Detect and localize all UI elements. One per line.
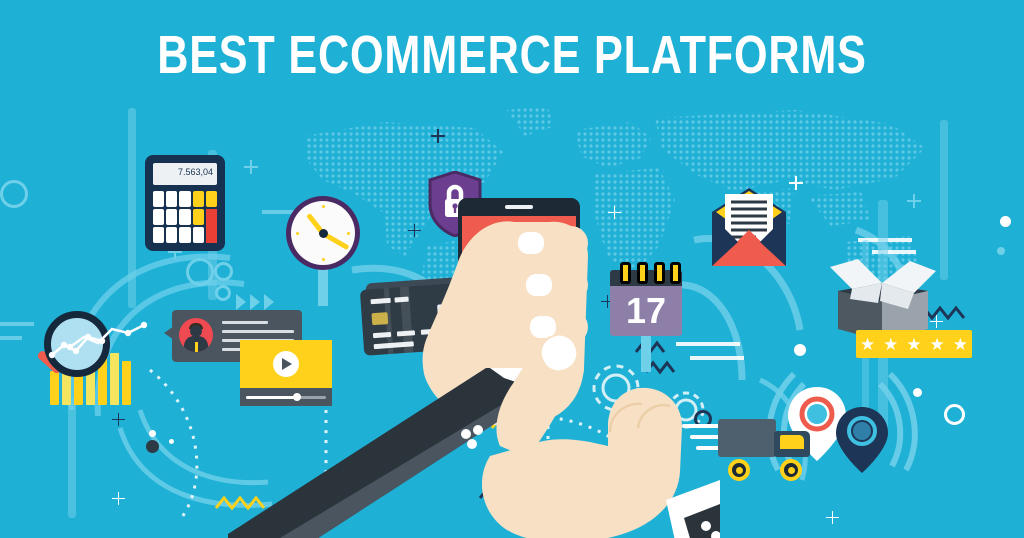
decor-plus [431, 129, 445, 143]
clock-tick [322, 205, 325, 208]
calculator-key[interactable] [166, 191, 177, 207]
decor-plus [789, 176, 803, 190]
calculator-key[interactable] [166, 227, 177, 243]
calculator-value: 7.563,04 [178, 167, 213, 177]
page-title: BEST ECOMMERCE PLATFORMS [102, 24, 921, 86]
chat-text-line [222, 321, 268, 324]
chat-tail [164, 326, 174, 340]
truck-wheel [728, 459, 750, 481]
pointing-hand-icon [470, 330, 720, 538]
map-pin-icon [834, 405, 890, 475]
star-icon: ★ [953, 336, 968, 353]
decor-plus [244, 160, 258, 174]
chat-text-line [222, 330, 294, 333]
star-icon: ★ [930, 336, 945, 353]
star-icon: ★ [906, 336, 921, 353]
truck-wheel [780, 459, 802, 481]
calculator-key[interactable] [179, 227, 190, 243]
decor-vertical-bar [128, 108, 136, 308]
calendar-ring [654, 262, 665, 284]
decor-dot [997, 247, 1005, 255]
calculator-keypad [153, 191, 217, 243]
clock-stem [318, 266, 328, 306]
decor-ring [214, 262, 233, 281]
decor-dot [794, 344, 806, 356]
clock-icon [286, 196, 360, 270]
calculator-key[interactable] [153, 227, 164, 243]
calculator-key[interactable] [179, 191, 190, 207]
calendar-ring [637, 262, 648, 284]
truck-cargo [718, 419, 776, 457]
calculator-key-equals[interactable] [206, 209, 217, 243]
clock-face [291, 201, 355, 265]
magnifier-chart-icon [24, 305, 154, 405]
calendar-day: 17 [610, 286, 682, 336]
decor-plus [112, 492, 125, 505]
decor-ring [215, 285, 231, 301]
decor-ring [944, 404, 965, 425]
decor-plus [826, 511, 839, 524]
calculator-key[interactable] [193, 227, 204, 243]
star-rating-badge: ★ ★ ★ ★ ★ [856, 330, 972, 358]
clock-tick [347, 232, 350, 235]
calculator-key[interactable] [206, 191, 217, 207]
calculator-key[interactable] [153, 209, 164, 225]
clock-tick [296, 232, 299, 235]
decor-ring [0, 180, 28, 208]
calculator-icon: 7.563,04 [145, 155, 225, 251]
decor-vertical-bar [940, 120, 948, 280]
envelope-icon [708, 186, 790, 270]
delivery-truck-icon [718, 415, 822, 481]
star-icon: ★ [860, 336, 875, 353]
calculator-screen: 7.563,04 [153, 163, 217, 185]
calculator-key[interactable] [193, 191, 204, 207]
calendar-ring [620, 262, 631, 284]
decor-dot [169, 439, 174, 444]
decor-plus [907, 194, 921, 208]
clock-tick [322, 258, 325, 261]
decor-plus [112, 413, 125, 426]
calculator-key[interactable] [166, 209, 177, 225]
truck-window [780, 435, 804, 449]
decor-vertical-bar [68, 398, 76, 518]
phone-speaker [505, 205, 533, 209]
banner-illustration: 7.563,04 [0, 0, 1024, 538]
clock-center [319, 229, 328, 238]
calculator-key[interactable] [179, 209, 190, 225]
calculator-key[interactable] [153, 191, 164, 207]
avatar-tie [195, 342, 198, 352]
calculator-key[interactable] [193, 209, 204, 225]
decor-ring [186, 258, 214, 286]
calendar-icon: 17 [610, 262, 682, 336]
decor-dot [146, 440, 159, 453]
decor-dot [149, 430, 156, 437]
decor-dot [1000, 216, 1011, 227]
decor-plus [608, 206, 621, 219]
star-icon: ★ [883, 336, 898, 353]
avatar [179, 318, 213, 352]
trend-line-outer [18, 319, 178, 369]
card-chip [371, 312, 388, 325]
calendar-ring [670, 262, 681, 284]
